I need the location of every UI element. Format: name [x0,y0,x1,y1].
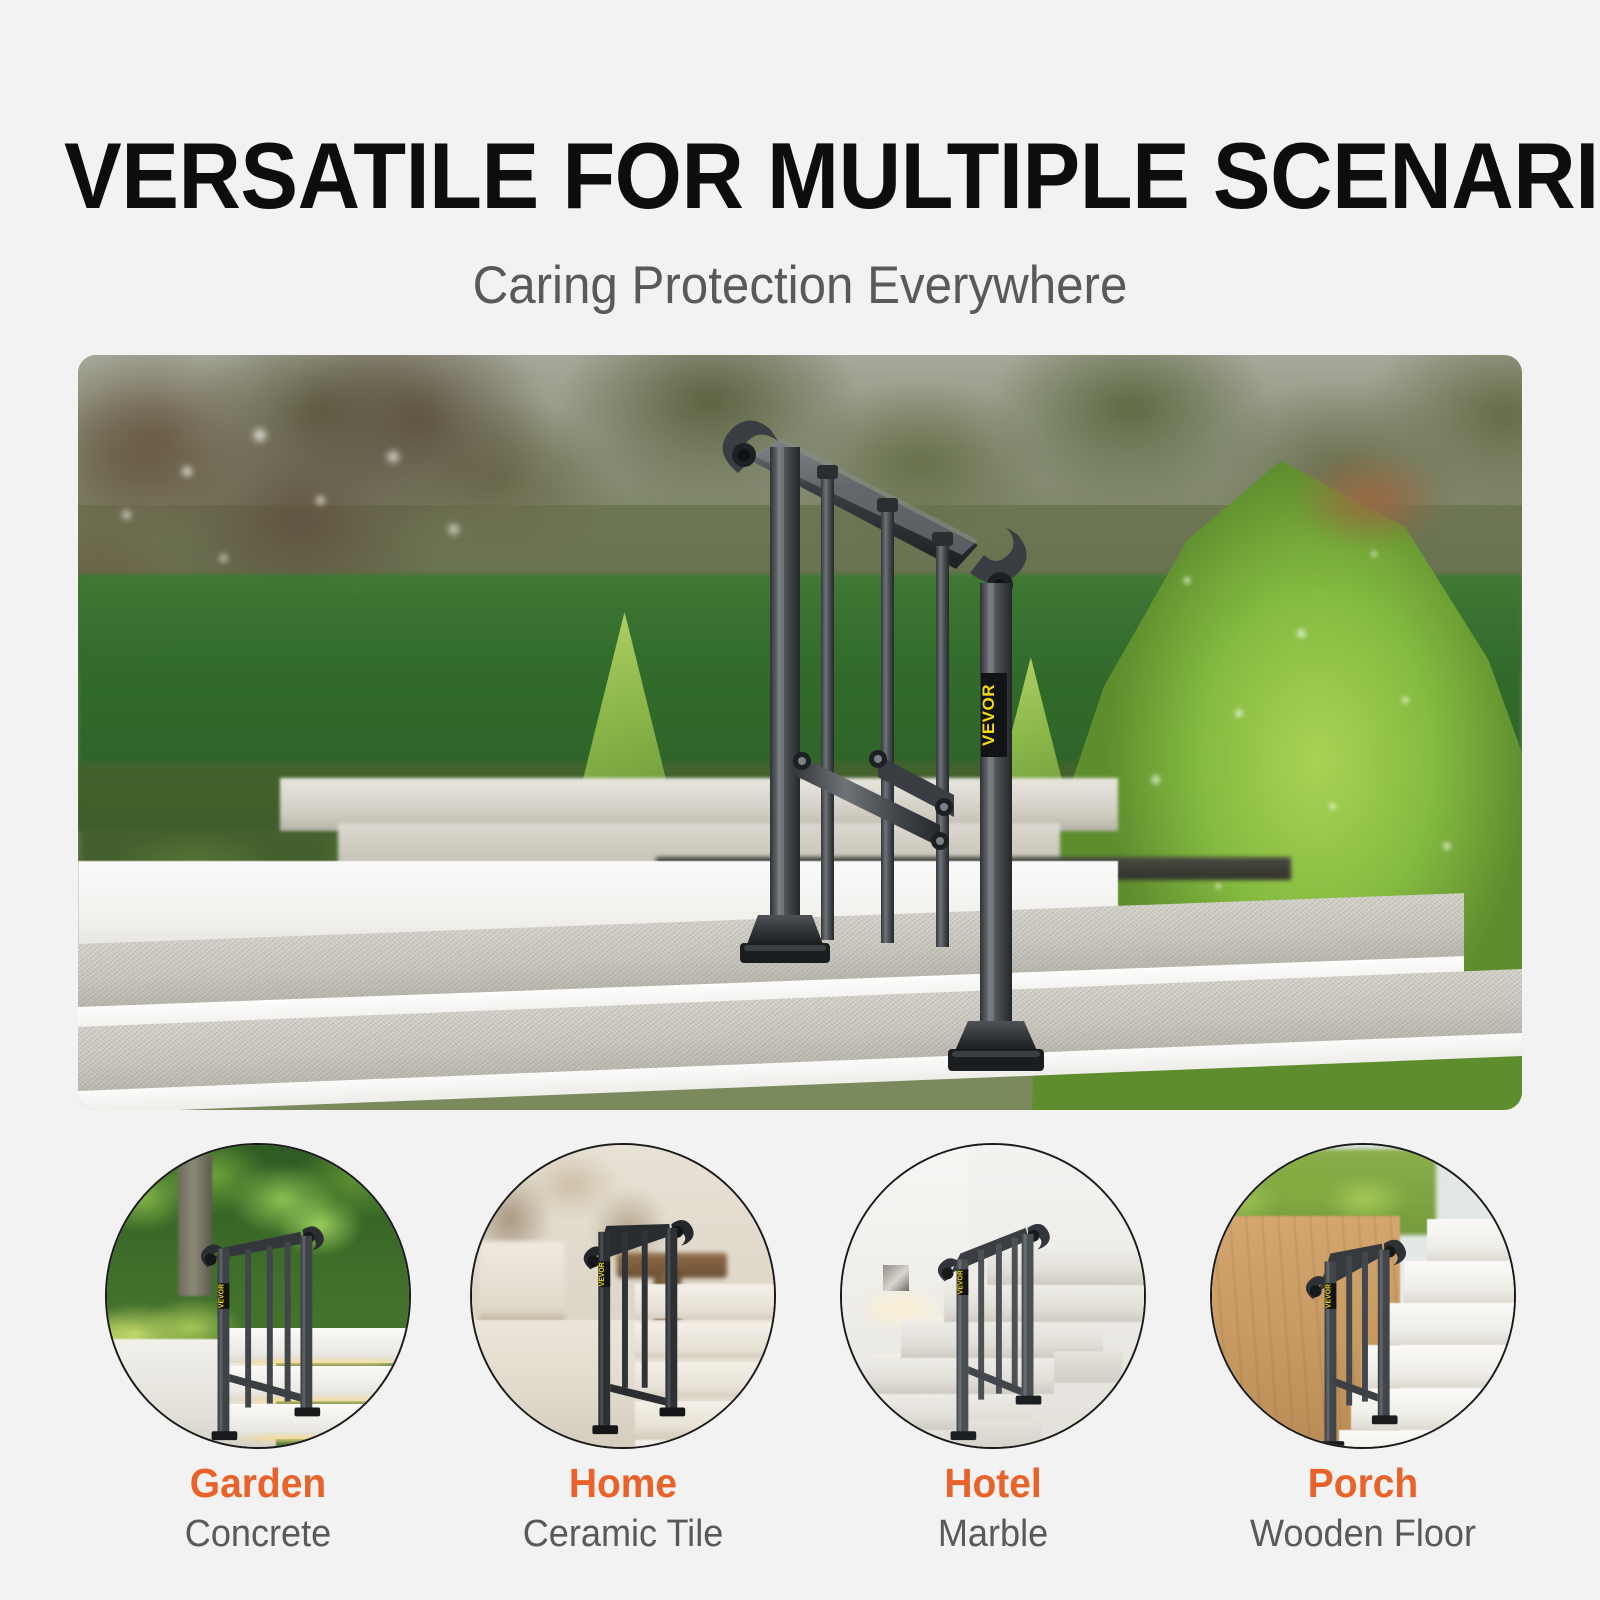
baluster [881,503,894,943]
vevor-brand-text: VEVOR [979,684,998,746]
svg-text:VEVOR: VEVOR [218,1284,225,1308]
product-feature-page: VERSATILE FOR MULTIPLE SCENARIOS Caring … [0,0,1600,1600]
scenario-thumbnail-hotel[interactable]: VEVOR [840,1143,1146,1449]
handrail-post-left [740,447,830,963]
scenario-label-row: Garden Concrete Home Ceramic Tile Hotel … [0,1460,1600,1590]
handrail-top-bar [723,420,1027,598]
page-headline: VERSATILE FOR MULTIPLE SCENARIOS [64,128,1536,224]
scenario-label-garden: Garden Concrete [105,1460,411,1556]
svg-text:VEVOR: VEVOR [1325,1284,1332,1308]
scenario-subtitle: Concrete [113,1512,404,1556]
garden-thumb-handrail: VEVOR [107,1145,409,1447]
scenario-title: Porch [1218,1460,1509,1506]
baluster [936,537,949,947]
scenario-thumbnail-home[interactable]: VEVOR [470,1143,776,1449]
post-base-plate [746,915,824,947]
home-thumb-handrail: VEVOR [472,1145,774,1447]
scenario-title: Garden [113,1460,404,1506]
scenario-label-hotel: Hotel Marble [840,1460,1146,1556]
svg-text:VEVOR: VEVOR [599,1262,606,1286]
scenario-label-home: Home Ceramic Tile [470,1460,776,1556]
scenario-subtitle: Ceramic Tile [478,1512,769,1556]
baluster [821,470,834,940]
scenario-thumbnail-row: VEVOR [0,1143,1600,1453]
scenario-thumbnail-porch[interactable]: VEVOR [1210,1143,1516,1449]
diagonal-support-bracket [793,750,954,850]
scenario-subtitle: Wooden Floor [1218,1512,1509,1556]
scenario-label-porch: Porch Wooden Floor [1210,1460,1516,1556]
baluster-group [817,465,953,947]
scenario-title: Hotel [848,1460,1139,1506]
porch-thumb-handrail: VEVOR [1212,1145,1514,1447]
handrail-post-right: VEVOR [948,583,1044,1071]
post-base-plate [954,1021,1038,1053]
page-subheadline: Caring Protection Everywhere [56,256,1544,316]
scenario-title: Home [478,1460,769,1506]
handrail-product: VEVOR [78,355,1522,1110]
hotel-thumb-handrail: VEVOR [842,1145,1144,1447]
svg-text:VEVOR: VEVOR [957,1270,964,1294]
vevor-brand-label: VEVOR [979,673,1007,757]
scenario-subtitle: Marble [848,1512,1139,1556]
scenario-thumbnail-garden[interactable]: VEVOR [105,1143,411,1449]
hero-image: VEVOR [78,355,1522,1110]
